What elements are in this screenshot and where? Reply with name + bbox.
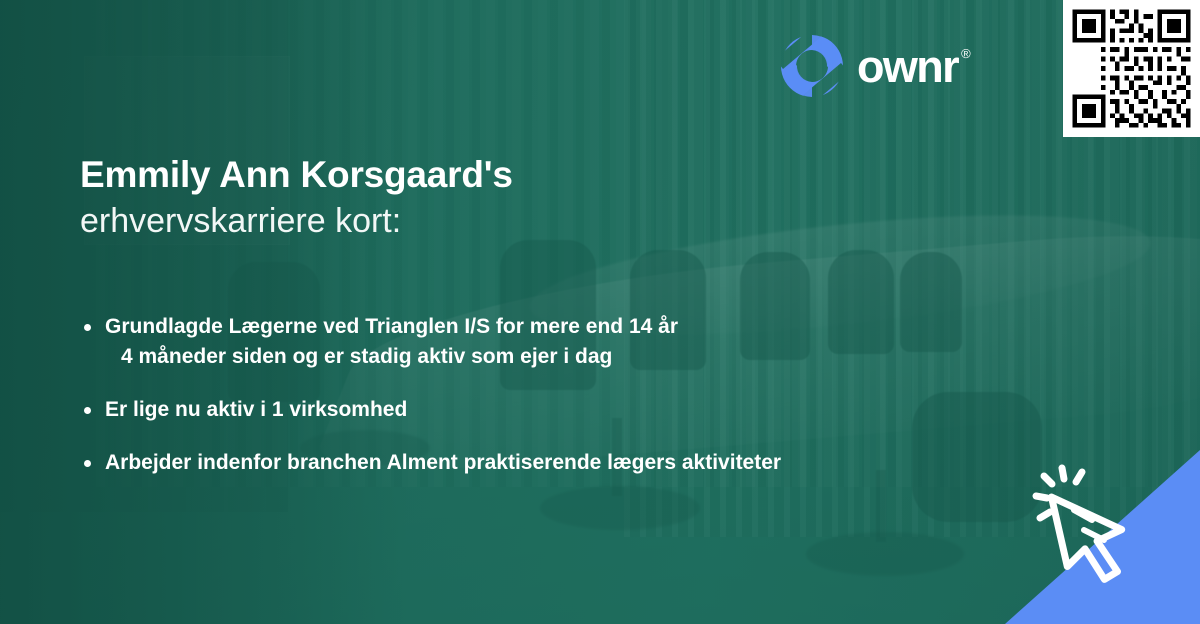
list-item: Arbejder indenfor branchen Alment prakti… <box>80 448 1000 478</box>
list-item-line1: Grundlagde Lægerne ved Trianglen I/S for… <box>105 315 678 338</box>
list-item: Er lige nu aktiv i 1 virksomhed <box>80 395 1000 425</box>
ownr-wordmark: ownr <box>857 44 958 89</box>
page-subtitle: erhvervskarriere kort: <box>80 198 1000 244</box>
career-facts-list: Grundlagde Lægerne ved Trianglen I/S for… <box>80 312 1000 478</box>
list-item-line1: Er lige nu aktiv i 1 virksomhed <box>105 398 407 421</box>
bullet-dot-icon <box>84 324 91 331</box>
ownr-circular-mark-icon <box>779 33 845 99</box>
list-item: Grundlagde Lægerne ved Trianglen I/S for… <box>80 312 1000 372</box>
bullet-dot-icon <box>84 460 91 467</box>
business-career-card: ownr ® <box>0 0 1200 624</box>
list-item-line1: Arbejder indenfor branchen Alment prakti… <box>105 451 781 474</box>
registered-trademark-icon: ® <box>961 47 971 60</box>
page-title: Emmily Ann Korsgaard's <box>80 152 1000 198</box>
ownr-logo[interactable]: ownr ® <box>779 33 971 99</box>
bullet-dot-icon <box>84 407 91 414</box>
list-item-line2: 4 måneder siden og er stadig aktiv som e… <box>105 342 1000 372</box>
text-content: Emmily Ann Korsgaard's erhvervskarriere … <box>80 152 1000 478</box>
qr-code[interactable] <box>1063 0 1200 137</box>
